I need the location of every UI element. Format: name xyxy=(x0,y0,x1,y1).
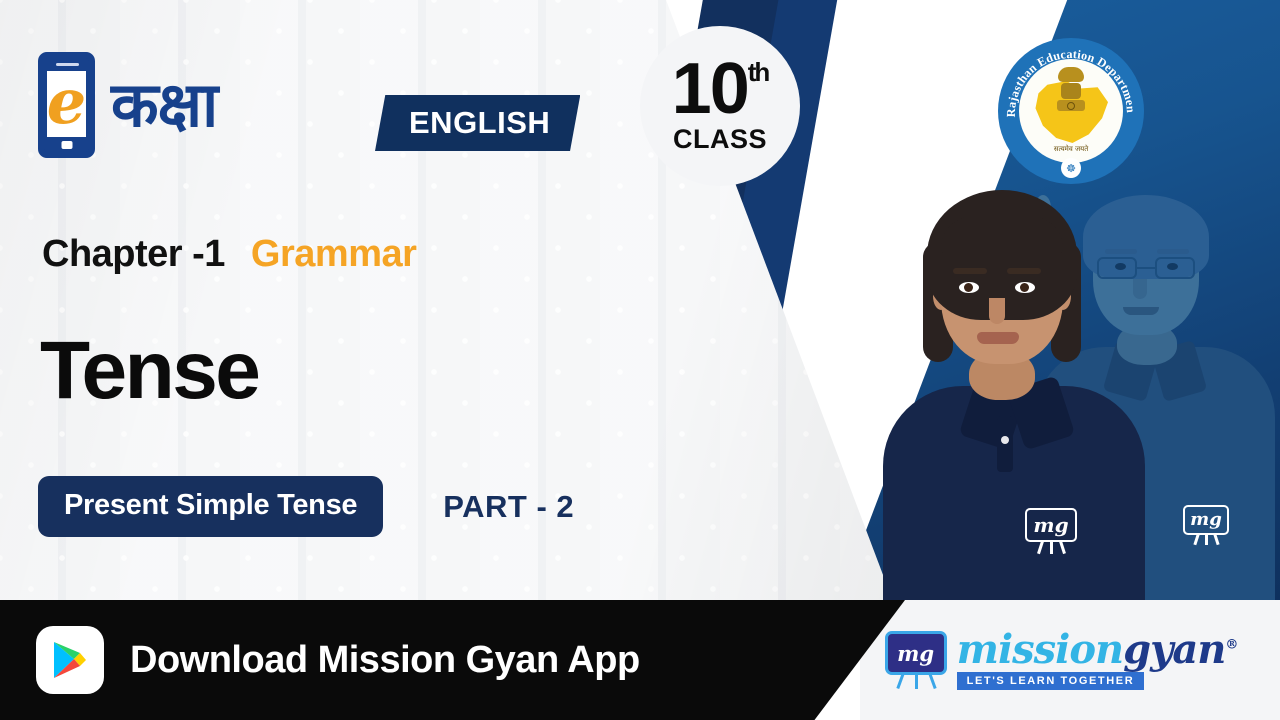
subtitle-badge: Present Simple Tense xyxy=(38,476,383,537)
lesson-title: Tense xyxy=(40,330,258,412)
footer-cta-label: Download Mission Gyan App xyxy=(130,639,640,682)
logo-inner-disc: सत्यमेव जयते xyxy=(1019,59,1123,163)
mg-leg-center xyxy=(1205,534,1208,545)
mg-leg-left-2 xyxy=(1037,541,1043,554)
mg-monogram: mg xyxy=(1190,509,1222,530)
mg-leg-center-2 xyxy=(1050,541,1053,554)
missiongyan-monogram: mg xyxy=(897,641,934,666)
emblem-motto: सत्यमेव जयते xyxy=(1019,145,1123,154)
missiongyan-script-row: missiongyan® xyxy=(957,630,1238,670)
presenter-primary-brow-right xyxy=(1007,268,1041,274)
logo-e-glyph: e xyxy=(47,71,86,133)
class-ordinal: th xyxy=(748,61,769,84)
tablet-icon: e xyxy=(38,52,95,158)
google-play-icon[interactable] xyxy=(36,626,104,694)
ashoka-lion-capital-icon xyxy=(1051,67,1091,129)
logo-kaksha-text: कक्षा xyxy=(111,74,217,136)
presenter-primary-brow-left xyxy=(953,268,987,274)
missiongyan-leg-center xyxy=(915,673,918,689)
lion-head xyxy=(1058,67,1084,82)
presenter-primary-shirt-logo: mg xyxy=(1025,508,1077,554)
mg-easel-board: mg xyxy=(1183,505,1229,535)
footer-brand-area: mg missiongyan® LET'S LEARN TOGETHER xyxy=(860,600,1280,720)
play-store-triangle xyxy=(52,640,88,680)
lion-body xyxy=(1061,83,1081,99)
mg-easel-board-2: mg xyxy=(1025,508,1077,542)
missiongyan-tagline: LET'S LEARN TOGETHER xyxy=(957,672,1145,690)
presenter-primary-eye-left xyxy=(959,282,979,293)
presenter-primary-mouth xyxy=(977,332,1019,344)
missiongyan-easel-icon: mg xyxy=(885,631,947,689)
class-badge: 10th CLASS xyxy=(640,26,800,186)
chapter-topic: Grammar xyxy=(251,233,416,276)
logo-bottom-chakra: ☸ xyxy=(1061,158,1081,178)
part-label: PART - 2 xyxy=(443,489,574,525)
subject-banner: ENGLISH xyxy=(375,95,580,151)
missiongyan-board: mg xyxy=(885,631,947,675)
subject-banner-label: ENGLISH xyxy=(409,105,550,141)
lion-abacus xyxy=(1057,100,1085,111)
mg-leg-left xyxy=(1193,534,1199,545)
class-number: 10 xyxy=(672,57,748,122)
presenter-secondary-brow-right xyxy=(1157,249,1189,254)
chapter-label: Chapter -1 xyxy=(42,233,225,276)
mg-monogram-2: mg xyxy=(1033,513,1068,537)
presenter-primary-nose xyxy=(989,298,1005,324)
mg-leg-right xyxy=(1213,534,1219,545)
mg-leg-right-2 xyxy=(1059,541,1065,554)
missiongyan-mission: mission xyxy=(957,626,1124,673)
rajasthan-education-department-logo: Rajasthan Education Department सत्यमेव ज… xyxy=(998,38,1144,184)
presenter-primary-eye-right xyxy=(1015,282,1035,293)
presenter-primary: mg xyxy=(875,190,1150,620)
subtitle-row: Present Simple Tense PART - 2 xyxy=(38,476,574,537)
presenter-primary-hairline xyxy=(941,216,1063,254)
ashoka-chakra-icon xyxy=(1067,102,1075,110)
missiongyan-logo: mg missiongyan® LET'S LEARN TOGETHER xyxy=(885,630,1256,690)
missiongyan-wordmark: missiongyan® LET'S LEARN TOGETHER xyxy=(957,630,1238,690)
missiongyan-gyan: gyan xyxy=(1123,626,1225,673)
tablet-screen: e xyxy=(47,71,86,137)
class-number-row: 10th xyxy=(672,57,769,122)
tablet-home-button xyxy=(61,141,72,149)
chapter-line: Chapter -1 Grammar xyxy=(42,233,416,276)
missiongyan-leg-right xyxy=(928,673,936,689)
presenter-primary-placket xyxy=(997,416,1013,472)
presenter-secondary-shirt-logo: mg xyxy=(1183,505,1229,545)
presenter-primary-button xyxy=(1001,436,1009,444)
footer-cta-row[interactable]: Download Mission Gyan App xyxy=(36,600,640,720)
missiongyan-leg-left xyxy=(896,673,904,689)
thumbnail-canvas: e कक्षा ENGLISH 10th CLASS Chapter -1 Gr… xyxy=(0,0,1280,720)
ekaksha-logo: e कक्षा xyxy=(38,52,217,158)
registered-mark: ® xyxy=(1225,638,1237,653)
